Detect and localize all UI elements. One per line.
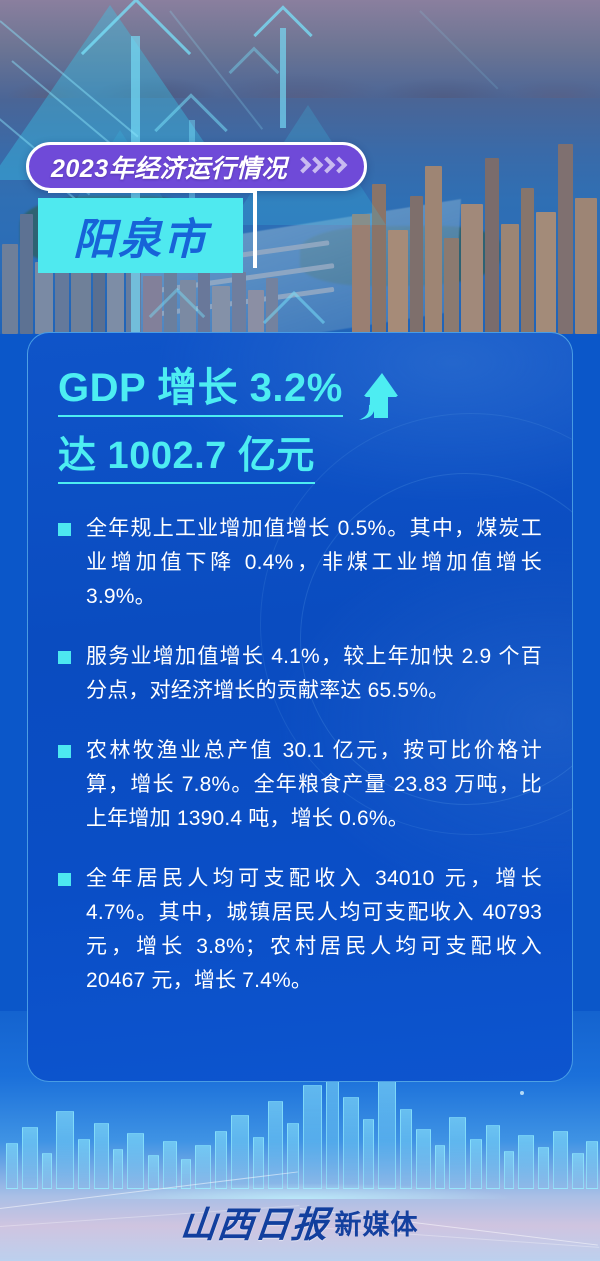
chevron-group	[297, 158, 344, 175]
up-arrow-icon	[355, 371, 399, 426]
bullet-square-icon	[58, 523, 71, 536]
badge-label: 2023年经济运行情况	[51, 149, 287, 185]
bullet-square-icon	[58, 745, 71, 758]
bullet-text: 农林牧渔业总产值 30.1 亿元，按可比价格计算，增长 7.8%。全年粮食产量 …	[86, 734, 542, 836]
gdp-total-headline: 达 1002.7 亿元	[58, 436, 315, 484]
statistics-card: GDP 增长 3.2% 达 1002.7 亿元 全年规上工业增加值增长 0.5%…	[27, 332, 573, 1082]
bullet-text: 全年居民人均可支配收入 34010 元，增长 4.7%。其中，城镇居民人均可支配…	[86, 862, 542, 998]
list-item: 全年居民人均可支配收入 34010 元，增长 4.7%。其中，城镇居民人均可支配…	[58, 862, 542, 998]
list-item: 全年规上工业增加值增长 0.5%。其中，煤炭工业增加值下降 0.4%，非煤工业增…	[58, 512, 542, 614]
bullet-text: 服务业增加值增长 4.1%，较上年加快 2.9 个百分点，对经济增长的贡献率达 …	[86, 640, 542, 708]
infographic-poster: 2023年经济运行情况 阳泉市 GDP 增长 3.2% 达 10	[0, 0, 600, 1261]
chevron-right-icon	[321, 158, 332, 175]
publisher-logo: 山西日报 新媒体	[0, 1183, 600, 1261]
chevron-right-icon	[309, 158, 320, 175]
city-name-label: 阳泉市	[73, 205, 208, 267]
publisher-suffix: 新媒体	[335, 1203, 419, 1242]
chevron-right-icon	[297, 158, 308, 175]
gdp-headline-block: GDP 增长 3.2% 达 1002.7 亿元	[58, 367, 542, 484]
bullet-square-icon	[58, 651, 71, 664]
list-item: 农林牧渔业总产值 30.1 亿元，按可比价格计算，增长 7.8%。全年粮食产量 …	[58, 734, 542, 836]
bullet-text: 全年规上工业增加值增长 0.5%。其中，煤炭工业增加值下降 0.4%，非煤工业增…	[86, 512, 542, 614]
publisher-name: 山西日报	[179, 1196, 332, 1248]
gdp-headline-row: GDP 增长 3.2%	[58, 367, 542, 426]
year-topic-badge: 2023年经济运行情况	[26, 142, 367, 191]
bullet-square-icon	[58, 873, 71, 886]
city-name-box: 阳泉市	[38, 198, 243, 273]
statistics-bullet-list: 全年规上工业增加值增长 0.5%。其中，煤炭工业增加值下降 0.4%，非煤工业增…	[58, 512, 542, 998]
chevron-right-icon	[333, 158, 344, 175]
gdp-growth-headline: GDP 增长 3.2%	[58, 367, 343, 417]
list-item: 服务业增加值增长 4.1%，较上年加快 2.9 个百分点，对经济增长的贡献率达 …	[58, 640, 542, 708]
